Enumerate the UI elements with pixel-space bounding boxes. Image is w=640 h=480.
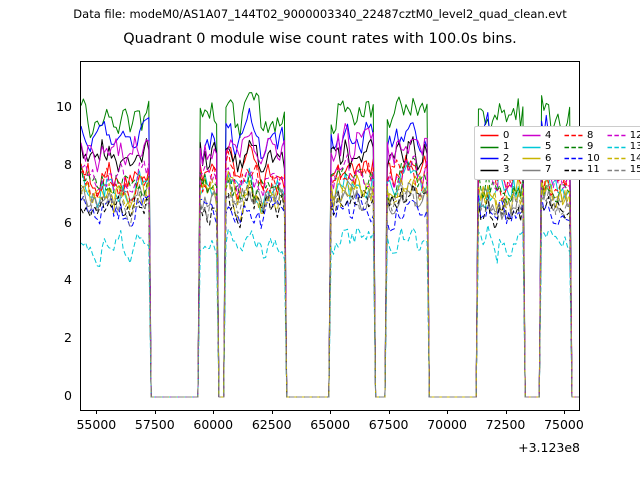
legend-label-13: 13 [630, 142, 640, 152]
legend-swatch-9 [564, 144, 583, 151]
y-tick-label: 8 [32, 159, 72, 171]
legend-entry-2[interactable]: 2 [480, 153, 515, 165]
legend-entry-15[interactable]: 15 [607, 165, 640, 177]
legend-entry-6[interactable]: 6 [522, 153, 557, 165]
plot-lines [81, 62, 579, 410]
legend-swatch-1 [480, 144, 499, 151]
y-tick-label: 0 [32, 390, 72, 402]
x-tick-mark [330, 410, 331, 414]
legend-swatch-13 [607, 144, 626, 151]
legend-swatch-14 [607, 155, 626, 162]
y-axis-tick-labels: 0246810 [28, 61, 72, 411]
legend-swatch-12 [607, 132, 626, 139]
legend-entry-13[interactable]: 13 [607, 142, 640, 154]
x-tick-mark [272, 410, 273, 414]
x-tick-mark [213, 410, 214, 414]
legend-swatch-7 [522, 167, 541, 174]
x-tick-mark [155, 410, 156, 414]
legend-entry-3[interactable]: 3 [480, 165, 515, 177]
legend-label-0: 0 [503, 131, 515, 141]
x-tick-label: 75000 [524, 417, 604, 432]
legend-swatch-4 [522, 132, 541, 139]
legend-entry-12[interactable]: 12 [607, 130, 640, 142]
legend-label-12: 12 [630, 131, 640, 141]
legend-label-8: 8 [587, 131, 599, 141]
figure-canvas: Data file: modeM0/AS1A07_144T02_90000033… [0, 0, 640, 480]
legend-entry-0[interactable]: 0 [480, 130, 515, 142]
legend-entry-5[interactable]: 5 [522, 142, 557, 154]
y-tick-label: 2 [32, 332, 72, 344]
legend-label-2: 2 [503, 154, 515, 164]
legend[interactable]: 0123456789101112131415 [474, 126, 640, 180]
legend-entry-14[interactable]: 14 [607, 153, 640, 165]
legend-swatch-11 [564, 167, 583, 174]
legend-entry-8[interactable]: 8 [564, 130, 600, 142]
legend-label-1: 1 [503, 142, 515, 152]
x-tick-mark [389, 410, 390, 414]
legend-swatch-2 [480, 155, 499, 162]
y-tick-label: 10 [32, 101, 72, 113]
legend-entry-10[interactable]: 10 [564, 153, 600, 165]
legend-entry-7[interactable]: 7 [522, 165, 557, 177]
y-tick-label: 6 [32, 217, 72, 229]
x-tick-mark [564, 410, 565, 414]
legend-entry-9[interactable]: 9 [564, 142, 600, 154]
x-tick-mark [447, 410, 448, 414]
legend-swatch-0 [480, 132, 499, 139]
legend-swatch-8 [564, 132, 583, 139]
plot-axes: 0123456789101112131415 [80, 61, 580, 411]
legend-label-9: 9 [587, 142, 599, 152]
legend-label-7: 7 [545, 165, 557, 175]
legend-label-11: 11 [587, 165, 600, 175]
legend-label-15: 15 [630, 165, 640, 175]
legend-label-4: 4 [545, 131, 557, 141]
legend-swatch-10 [564, 155, 583, 162]
legend-entry-4[interactable]: 4 [522, 130, 557, 142]
legend-swatch-5 [522, 144, 541, 151]
legend-swatch-15 [607, 167, 626, 174]
legend-label-5: 5 [545, 142, 557, 152]
datafile-label: Data file: modeM0/AS1A07_144T02_90000033… [0, 7, 640, 21]
legend-label-10: 10 [587, 154, 600, 164]
legend-swatch-3 [480, 167, 499, 174]
legend-swatch-6 [522, 155, 541, 162]
legend-label-6: 6 [545, 154, 557, 164]
legend-entry-1[interactable]: 1 [480, 142, 515, 154]
x-tick-mark [96, 410, 97, 414]
page-title: Quadrant 0 module wise count rates with … [0, 31, 640, 47]
x-axis-offset-label: +3.123e8 [440, 440, 580, 455]
legend-grid: 0123456789101112131415 [480, 130, 640, 176]
legend-label-3: 3 [503, 165, 515, 175]
legend-label-14: 14 [630, 154, 640, 164]
x-tick-mark [506, 410, 507, 414]
y-tick-label: 4 [32, 274, 72, 286]
legend-entry-11[interactable]: 11 [564, 165, 600, 177]
